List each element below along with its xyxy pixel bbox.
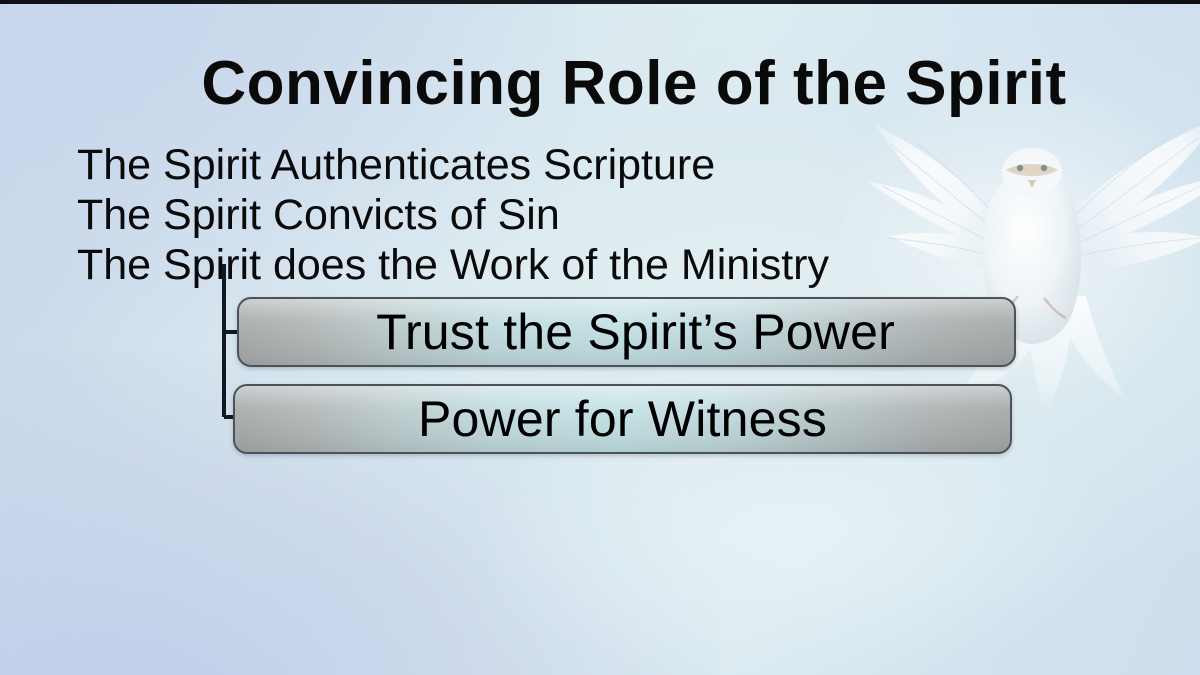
page-title: Convincing Role of the Spirit [0,48,1200,119]
callout-trust-the-spirits-power[interactable]: Trust the Spirit’s Power [237,297,1016,367]
list-item: The Spirit does the Work of the Ministry [77,240,1057,290]
callout-power-for-witness[interactable]: Power for Witness [233,384,1012,454]
presentation-slide: Convincing Role of the Spirit The Spirit… [0,0,1200,675]
bullet-list: The Spirit Authenticates Scripture The S… [77,140,1057,290]
list-item: The Spirit Convicts of Sin [77,190,1057,240]
list-item: The Spirit Authenticates Scripture [77,140,1057,190]
top-border-bar [0,0,1200,4]
